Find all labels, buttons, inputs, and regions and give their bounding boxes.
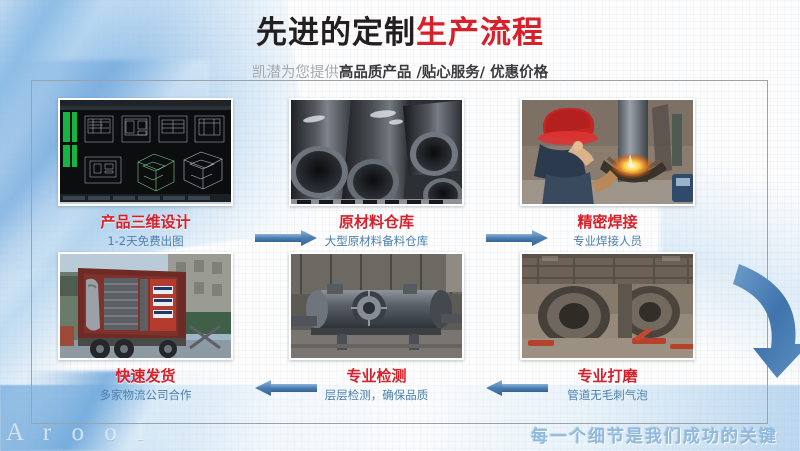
page-header: 先进的定制生产流程 凯潜为您提供高品质产品 /贴心服务/ 优惠价格 [0, 0, 800, 86]
caption-fast-shipping: 快速发货 多家物流公司合作 [58, 367, 233, 403]
step-title: 快速发货 [58, 367, 233, 386]
caption-product-3d-design: 产品三维设计 1-2天免费出图 [58, 213, 233, 249]
step-subtitle: 多家物流公司合作 [58, 388, 233, 403]
arrow-design-to-warehouse [255, 226, 317, 250]
workshop-grinding-photo [520, 252, 695, 360]
arrow-warehouse-to-welding [486, 226, 548, 250]
page-subtitle-bold-part: 高品质产品 /贴心服务/ 优惠价格 [339, 65, 548, 81]
page-title-red-part: 生产流程 [416, 15, 544, 51]
process-step-fast-shipping[interactable]: 快速发货 多家物流公司合作 [58, 252, 233, 403]
step-subtitle: 1-2天免费出图 [58, 234, 233, 249]
arrow-inspection-to-shipping [255, 376, 317, 400]
process-flow-grid: 产品三维设计 1-2天免费出图 [31, 80, 768, 424]
cad-drawing-screenshot [58, 98, 233, 206]
page-subtitle: 凯潜为您提供高品质产品 /贴心服务/ 优惠价格 [252, 61, 548, 82]
truck-loading-photo [58, 252, 233, 360]
footer-slogan: 每一个细节是我们成功的关键 [531, 422, 778, 447]
inspection-equipment-photo [289, 252, 464, 360]
page-subtitle-grey-part: 凯潜为您提供 [252, 65, 339, 81]
steel-pipes-photo [289, 98, 464, 206]
page-title: 先进的定制生产流程 [256, 7, 544, 52]
process-step-product-3d-design[interactable]: 产品三维设计 1-2天免费出图 [58, 98, 233, 249]
welder-photo [520, 98, 695, 206]
arrow-grinding-to-inspection [486, 376, 548, 400]
step-title: 产品三维设计 [58, 213, 233, 232]
arrow-welding-to-grinding [719, 248, 800, 403]
page-title-dark-part: 先进的定制 [256, 15, 416, 51]
